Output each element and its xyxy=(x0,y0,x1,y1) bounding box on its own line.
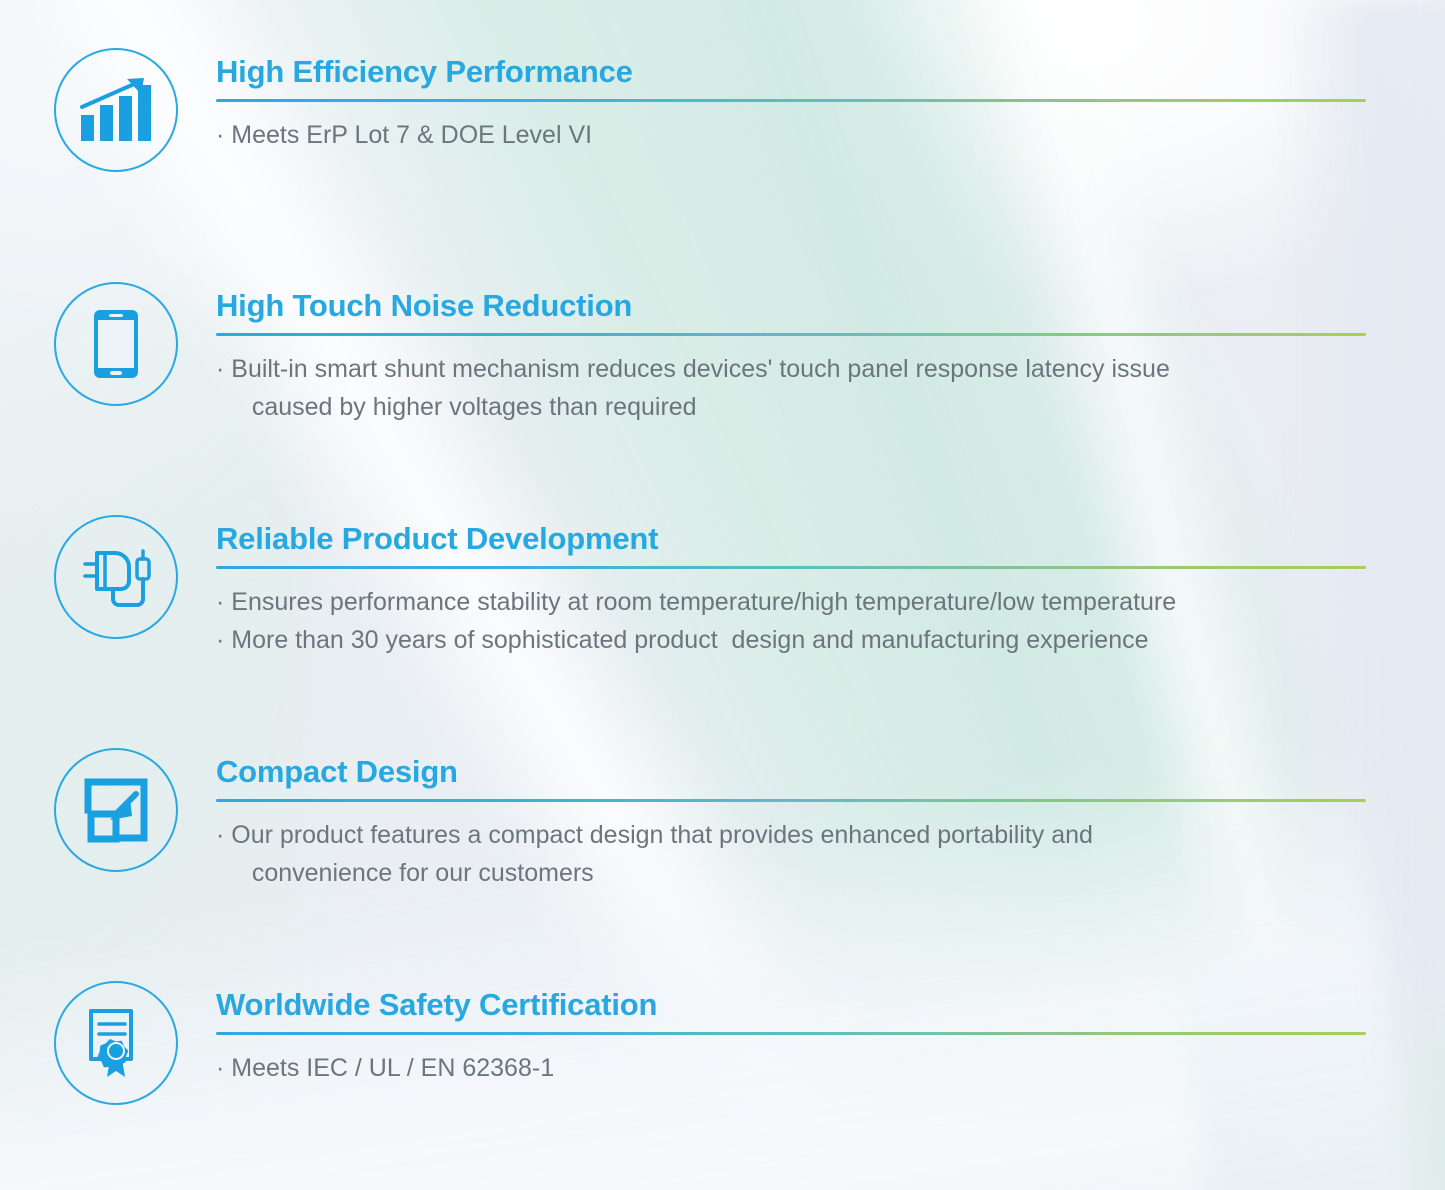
feature-item-worldwide-safety-certification: Worldwide Safety Certification · Meets I… xyxy=(54,981,1366,1105)
feature-item-reliable-product-development: Reliable Product Development · Ensures p… xyxy=(54,515,1366,659)
feature-divider xyxy=(216,99,1366,102)
feature-icon-circle xyxy=(54,748,178,872)
feature-title: Reliable Product Development xyxy=(216,521,1366,557)
feature-content: Compact Design · Our product features a … xyxy=(216,748,1366,892)
power-adapter-icon xyxy=(75,543,157,611)
feature-icon-circle xyxy=(54,48,178,172)
feature-item-high-efficiency-performance: High Efficiency Performance · Meets ErP … xyxy=(54,48,1366,172)
feature-title: Compact Design xyxy=(216,754,1366,790)
feature-bullet: · Meets IEC / UL / EN 62368-1 xyxy=(216,1049,1366,1087)
feature-divider xyxy=(216,566,1366,569)
feature-bullet: · More than 30 years of sophisticated pr… xyxy=(216,621,1366,659)
feature-icon-circle xyxy=(54,981,178,1105)
bar-chart-growth-icon xyxy=(79,77,153,143)
feature-bullet: · Ensures performance stability at room … xyxy=(216,583,1366,621)
feature-item-compact-design: Compact Design · Our product features a … xyxy=(54,748,1366,892)
feature-title: High Touch Noise Reduction xyxy=(216,288,1366,324)
compact-resize-icon xyxy=(82,776,150,844)
feature-bullet-list: · Ensures performance stability at room … xyxy=(216,583,1366,659)
feature-bullet-list: · Meets ErP Lot 7 & DOE Level VI xyxy=(216,116,1366,154)
feature-divider xyxy=(216,333,1366,336)
feature-divider xyxy=(216,799,1366,802)
feature-content: Worldwide Safety Certification · Meets I… xyxy=(216,981,1366,1087)
feature-content: High Efficiency Performance · Meets ErP … xyxy=(216,48,1366,154)
feature-title: Worldwide Safety Certification xyxy=(216,987,1366,1023)
feature-bullet-list: · Our product features a compact design … xyxy=(216,816,1366,892)
feature-bullet-list: · Built-in smart shunt mechanism reduces… xyxy=(216,350,1366,426)
smartphone-icon xyxy=(93,309,139,379)
feature-content: Reliable Product Development · Ensures p… xyxy=(216,515,1366,659)
feature-divider xyxy=(216,1032,1366,1035)
feature-bullet: · Meets ErP Lot 7 & DOE Level VI xyxy=(216,116,1366,154)
feature-icon-circle xyxy=(54,282,178,406)
feature-item-high-touch-noise-reduction: High Touch Noise Reduction · Built-in sm… xyxy=(54,282,1366,426)
feature-content: High Touch Noise Reduction · Built-in sm… xyxy=(216,282,1366,426)
certificate-award-icon xyxy=(83,1007,149,1079)
feature-list-page: High Efficiency Performance · Meets ErP … xyxy=(0,0,1445,1190)
feature-icon-circle xyxy=(54,515,178,639)
feature-bullet: · Built-in smart shunt mechanism reduces… xyxy=(216,350,1366,426)
feature-bullet-list: · Meets IEC / UL / EN 62368-1 xyxy=(216,1049,1366,1087)
feature-bullet: · Our product features a compact design … xyxy=(216,816,1366,892)
feature-title: High Efficiency Performance xyxy=(216,54,1366,90)
